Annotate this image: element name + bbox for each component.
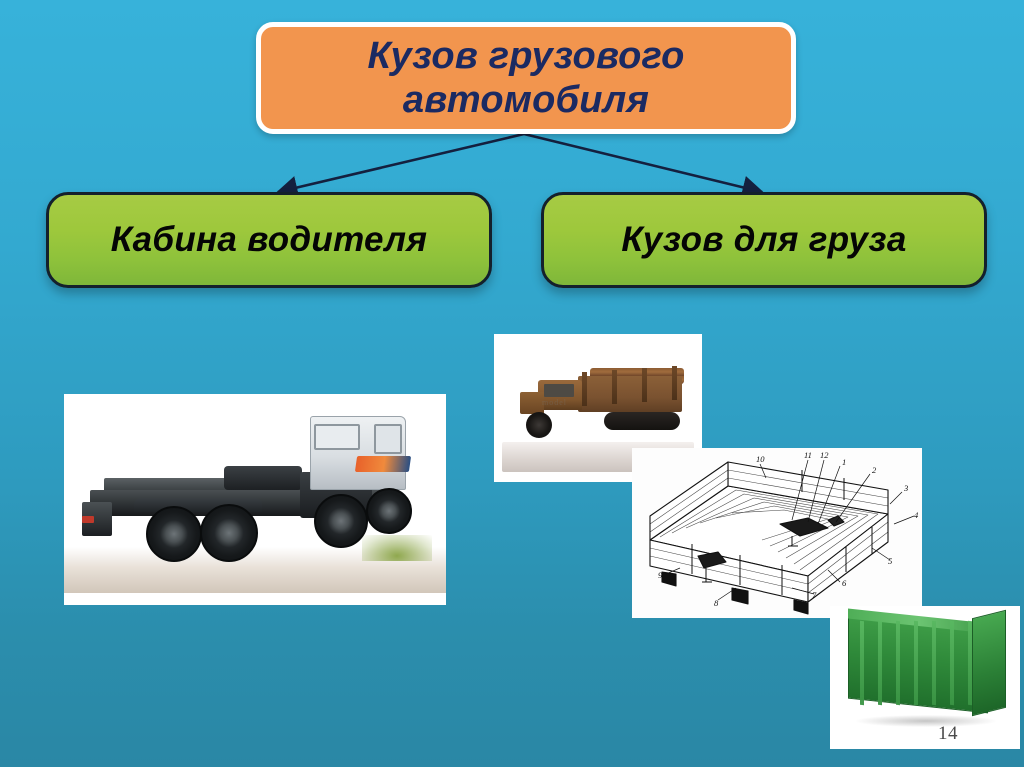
callout-5: 5: [888, 556, 892, 566]
platform-drawing-artwork: 10 11 12 1 2 3 4 5 6 7 8 9: [632, 448, 922, 618]
branch-box-cargo-body[interactable]: Кузов для груза: [541, 192, 987, 288]
photo-green-container: [830, 606, 1020, 749]
slide-canvas: Кузов грузового автомобиля Кабина водите…: [0, 0, 1024, 767]
arrow-to-cargo-body: [524, 134, 762, 192]
branch-box-cab[interactable]: Кабина водителя: [46, 192, 492, 288]
callout-3: 3: [903, 483, 908, 493]
slide-number: 14: [938, 723, 958, 745]
branch-label-cargo-body: Кузов для груза: [621, 220, 906, 260]
photo-truck-chassis: [64, 394, 446, 605]
arrow-to-cab: [278, 134, 524, 192]
branch-label-cab: Кабина водителя: [111, 220, 427, 260]
photo-platform-drawing: 10 11 12 1 2 3 4 5 6 7 8 9: [632, 448, 922, 618]
page-title-label: Кузов грузового автомобиля: [261, 34, 791, 122]
callout-1: 1: [842, 457, 846, 467]
callout-11: 11: [804, 450, 812, 460]
callout-10: 10: [756, 454, 765, 464]
green-container-artwork: [830, 606, 1020, 749]
page-title: Кузов грузового автомобиля: [256, 22, 796, 134]
truck-chassis-artwork: [64, 394, 446, 605]
callout-12: 12: [820, 450, 829, 460]
